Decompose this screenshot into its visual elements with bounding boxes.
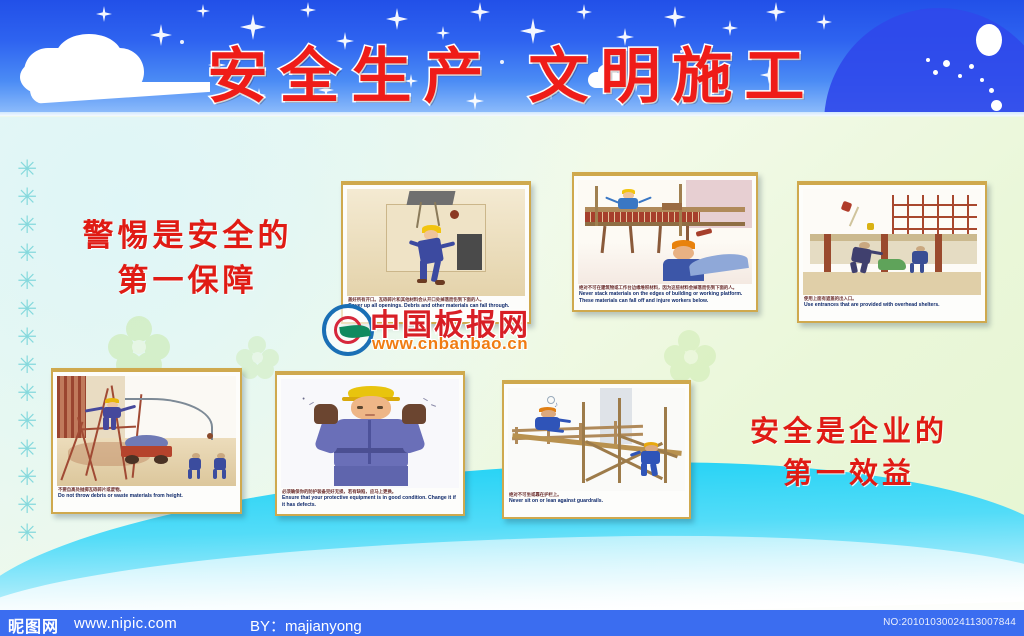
cnbanbao-logo-icon [322, 304, 374, 356]
sparkle-star [576, 4, 592, 20]
flower-decoration [664, 330, 716, 382]
asterisk-flower-icon: ✳ [16, 242, 38, 264]
slogan-left-line1: 警惕是安全的 [83, 218, 293, 254]
card-illustration: • [281, 379, 459, 488]
slogan-right-line2: 第一效益 [733, 452, 965, 494]
asterisk-flower-icon: ✳ [16, 438, 38, 460]
caption-en: Never stack materials on the edges of bu… [579, 291, 752, 304]
asterisk-flower-icon: ✳ [16, 494, 38, 516]
safety-card-guardrail[interactable]: ♪ 绝对不可坐或靠在护栏上。 Never sit on or lean agai… [502, 380, 691, 519]
footer-url[interactable]: www.nipic.com [74, 615, 177, 632]
sparkle-star [300, 2, 316, 18]
watermark-site-url: www.cnbanbao.cn [372, 334, 528, 354]
caption-zh: 绝对不可在建筑物或工作台边缘堆积材料，因为这些材料会掉落而伤到下面的人。 [579, 285, 752, 291]
page-title: 安全生产 文明施工 [0, 28, 1024, 115]
card-illustration [347, 189, 525, 296]
caption-en: Use entrances that are provided with ove… [804, 302, 981, 309]
card-illustration [803, 189, 981, 295]
card-caption: 必须确保你的防护装备完好无损，若有缺陷，应马上更换。 Ensure that y… [282, 489, 459, 512]
asterisk-flower-icon: ✳ [16, 382, 38, 404]
asterisk-flower-icon: ✳ [16, 522, 38, 544]
asterisk-flower-icon: ✳ [16, 466, 38, 488]
asterisk-flower-icon: ✳ [16, 270, 38, 292]
poster-footer: 昵图网 www.nipic.com BY：majianyong NO:20101… [0, 610, 1024, 636]
asterisk-flower-icon: ✳ [16, 214, 38, 236]
card-illustration: ♪ [508, 388, 685, 491]
safety-card-entrances[interactable]: 使用上面有遮盖的出入口。 Use entrances that are prov… [797, 181, 987, 323]
card-caption: 不要自高处抛掷瓦砾碎片或废物。 Do not throw debris or w… [58, 487, 236, 510]
asterisk-flower-icon: ✳ [16, 410, 38, 432]
footer-logo: 昵图网 [8, 613, 59, 636]
card-caption: 绝对不可在建筑物或工作台边缘堆积材料，因为这些材料会掉落而伤到下面的人。 Nev… [579, 285, 752, 308]
asterisk-flower-icon: ✳ [16, 326, 38, 348]
card-caption: 绝对不可坐或靠在护栏上。 Never sit on or lean agains… [509, 492, 685, 515]
asterisk-flower-icon: ✳ [16, 158, 38, 180]
footer-number: NO:20101030024113007844 [883, 617, 1016, 628]
sparkle-star [470, 2, 490, 22]
sparkle-star [386, 8, 408, 30]
asterisk-flower-icon: ✳ [16, 298, 38, 320]
footer-author: BY：majianyong [250, 615, 362, 636]
asterisk-flower-icon: ✳ [16, 354, 38, 376]
caption-en: Never sit on or lean against guardrails. [509, 498, 685, 505]
card-caption: 使用上面有遮盖的出入口。 Use entrances that are prov… [804, 296, 981, 319]
safety-card-stacking[interactable]: 绝对不可在建筑物或工作台边缘堆积材料，因为这些材料会掉落而伤到下面的人。 Nev… [572, 172, 758, 312]
caption-en: Ensure that your protective equipment is… [282, 495, 459, 508]
slogan-left: 警惕是安全的 第一保障 [70, 214, 305, 304]
slogan-left-line2: 第一保障 [70, 259, 305, 304]
safety-card-ppe[interactable]: • 必须确保你的防护装备完好无损，若有缺陷，应马上更换。 Ensure that… [275, 371, 465, 516]
card-illustration [578, 180, 752, 284]
sparkle-star [196, 4, 210, 18]
sparkle-star [96, 6, 112, 22]
safety-poster: 安全生产 文明施工 ✳ ✳ ✳ ✳ ✳ ✳ ✳ ✳ ✳ ✳ ✳ ✳ ✳ ✳ 警惕… [0, 0, 1024, 636]
slogan-right: 安全是企业的 第一效益 [733, 410, 965, 494]
flower-decoration [236, 336, 280, 380]
poster-header: 安全生产 文明施工 [0, 0, 1024, 116]
safety-card-throwing[interactable]: 不要自高处抛掷瓦砾碎片或废物。 Do not throw debris or w… [51, 368, 242, 514]
asterisk-flower-icon: ✳ [16, 186, 38, 208]
caption-en: Do not throw debris or waste materials f… [58, 493, 236, 500]
slogan-right-line1: 安全是企业的 [750, 414, 948, 448]
sparkle-star [664, 6, 686, 28]
sparkle-star [766, 2, 786, 22]
card-illustration [57, 376, 236, 486]
watermark: 中国板报网 www.cnbanbao.cn [322, 300, 558, 362]
